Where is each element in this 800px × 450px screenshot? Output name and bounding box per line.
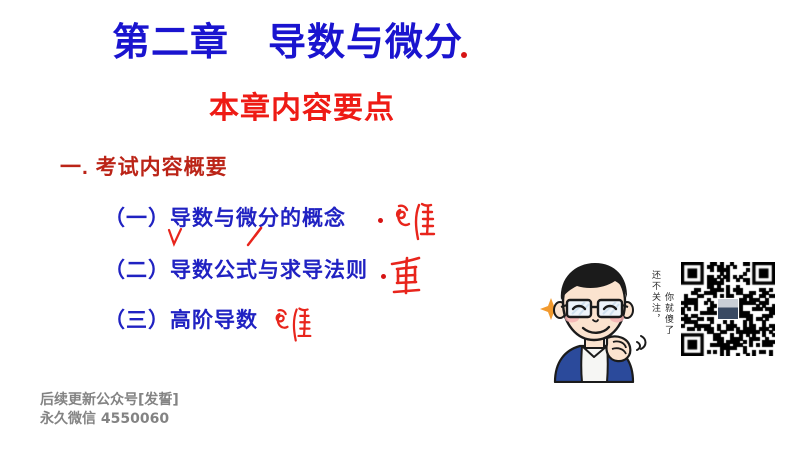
slide-canvas: 第二章 导数与微分 本章内容要点 一. 考试内容概要 （一）导数与微分的概念 （… [0,0,800,450]
title-red-dot-icon [461,52,467,58]
bullet-1-check-mark-2-icon [246,226,264,248]
section-heading: 一. 考试内容概要 [60,155,228,180]
bullet-1-annotation-nan-icon [392,200,438,244]
cartoon-mascot-icon [533,258,653,383]
callout-line-2: 你就傻了 [663,292,672,336]
list-item-1: （一）导数与微分的概念 [104,206,346,231]
watermark-line-1: 后续更新公众号[发誓] [40,392,179,410]
bullet-1-red-dot-icon [378,218,383,223]
list-item-3: （三）高阶导数 [104,308,258,333]
bullet-3-annotation-nan-icon [272,304,314,346]
qr-center-avatar [717,298,739,320]
list-item-2: （二）导数公式与求导法则 [104,258,368,283]
watermark-line-2: 永久微信 4550060 [40,411,169,429]
page-title: 第二章 导数与微分 [112,22,463,66]
bullet-2-annotation-zhong-icon [389,255,427,299]
bullet-2-red-dot-icon [381,274,386,279]
subtitle: 本章内容要点 [209,92,395,127]
bullet-1-check-mark-1-icon [167,228,183,248]
callout-line-1: 还不关注， [650,270,659,325]
